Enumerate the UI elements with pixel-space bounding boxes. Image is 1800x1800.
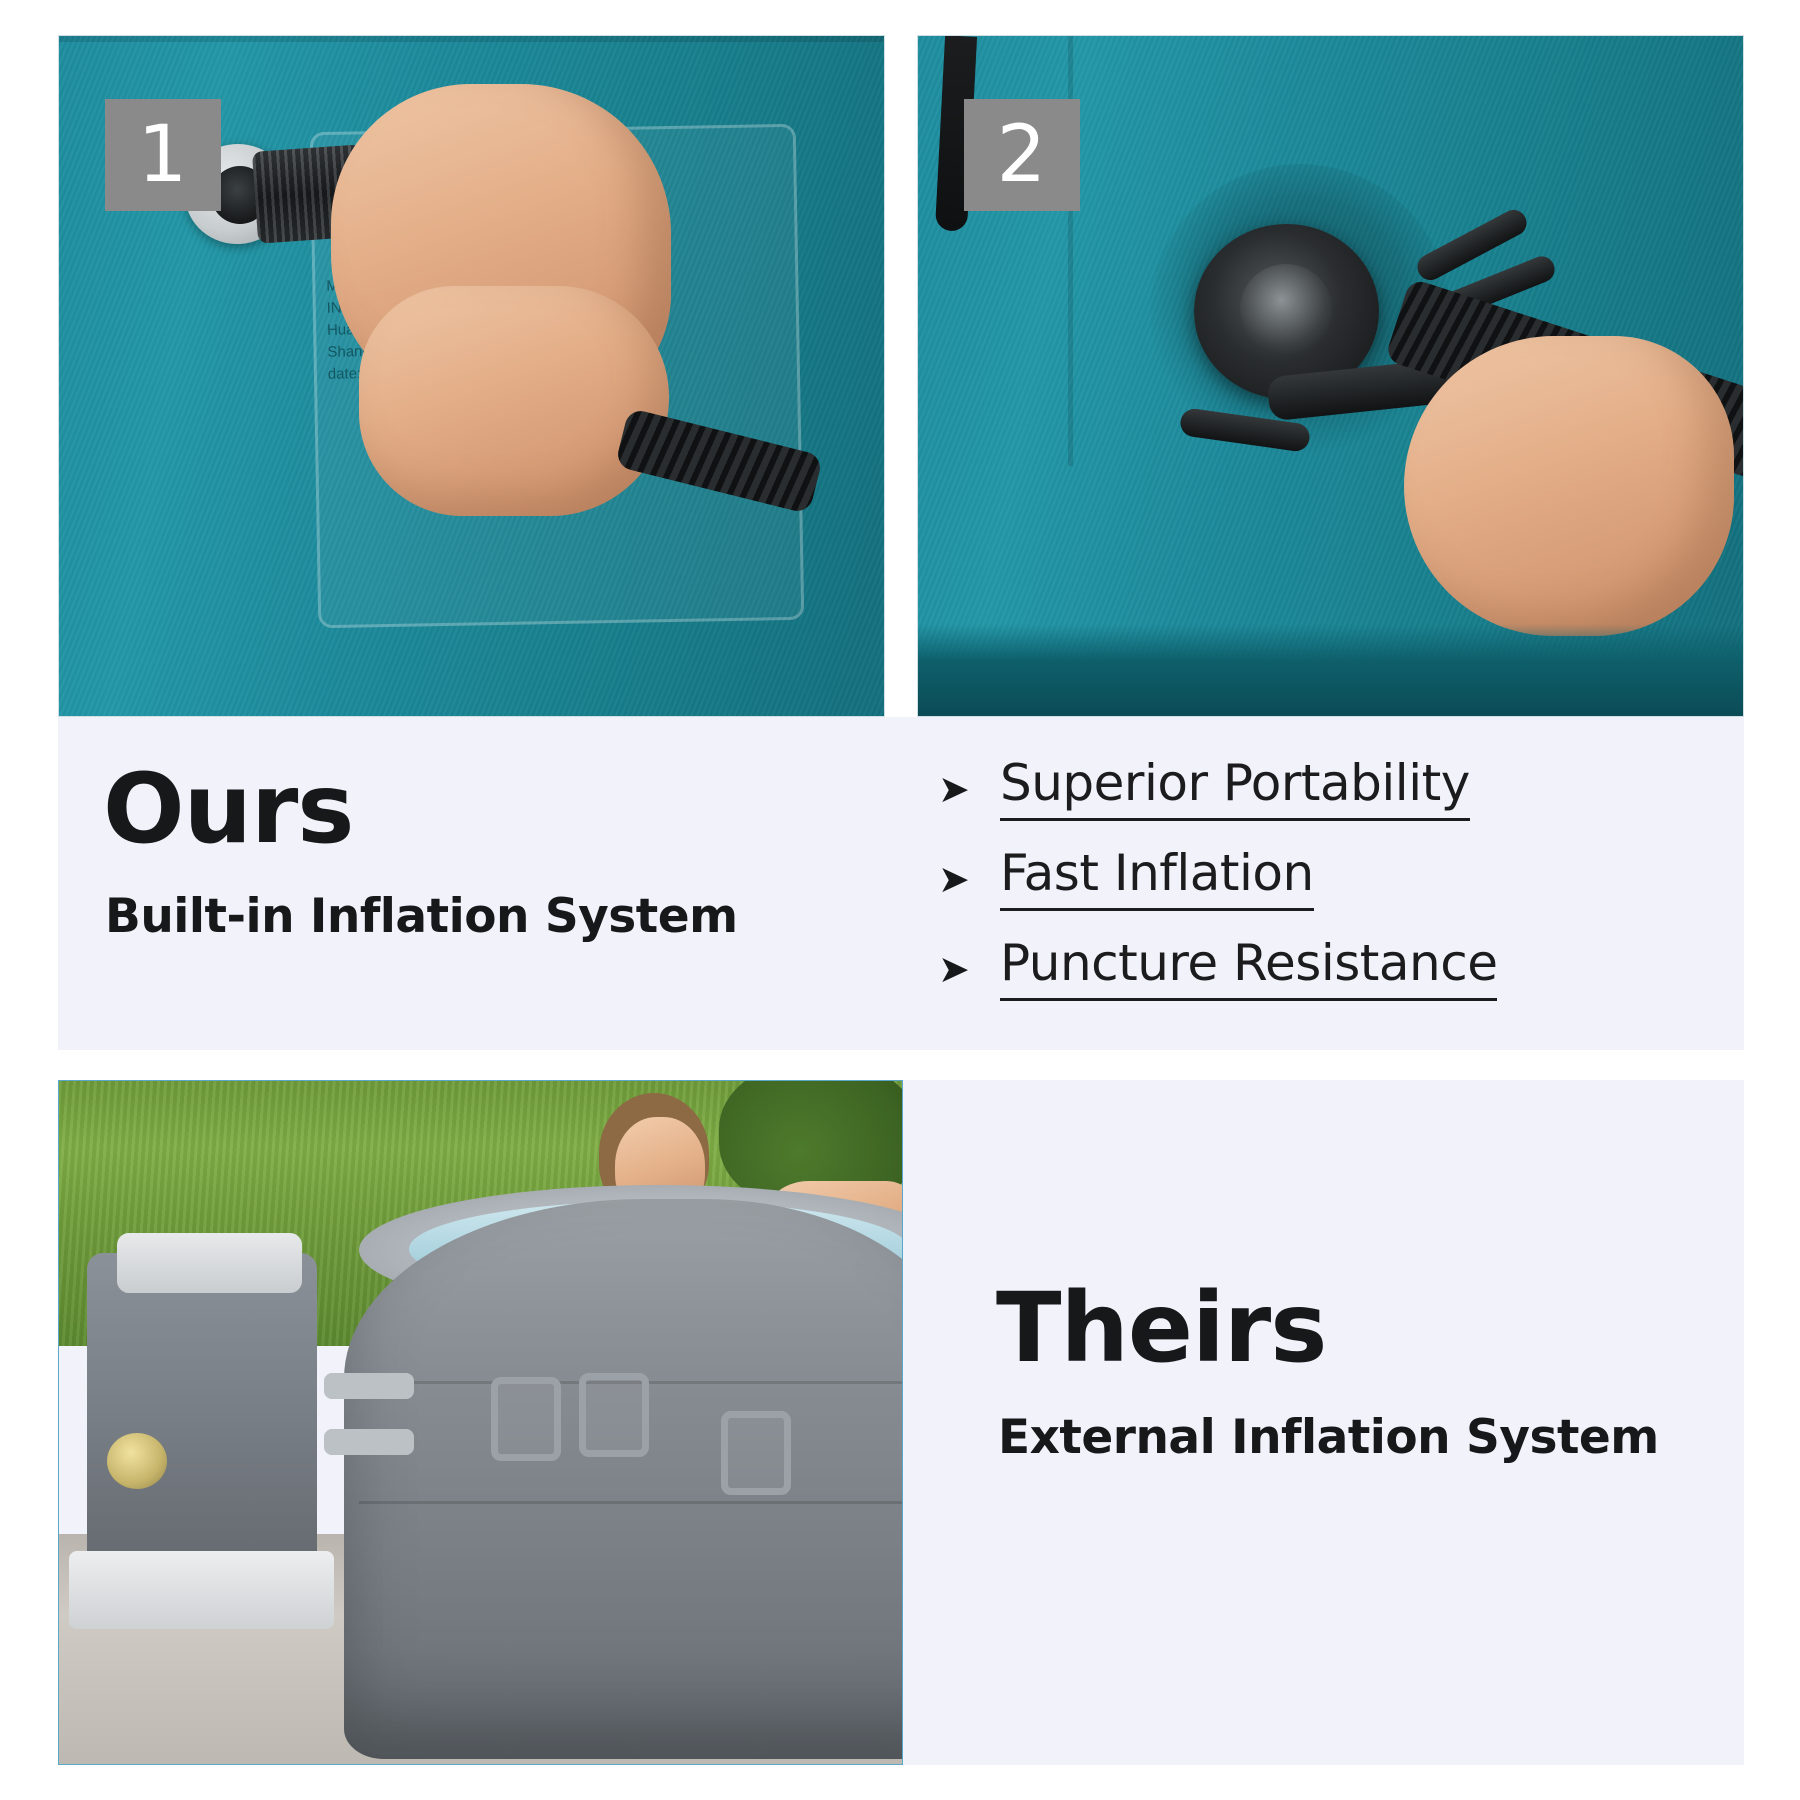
ours-step-2-photo: 2 (917, 35, 1744, 717)
theirs-photo (58, 1080, 903, 1765)
feature-item: ➤ Superior Portability (938, 749, 1698, 825)
theirs-title: Theirs (996, 1280, 1326, 1376)
tub-handle (491, 1377, 561, 1461)
comparison-infographic: Ma... Tempe... OCEANIA INTER... CO., LTD… (0, 0, 1800, 1800)
hand (1404, 336, 1734, 636)
external-hose-top (324, 1373, 414, 1399)
inflatable-tub (344, 1199, 903, 1759)
tub-handle (721, 1411, 791, 1495)
ours-section: Ma... Tempe... OCEANIA INTER... CO., LTD… (58, 35, 1744, 1050)
tub-handle (579, 1373, 649, 1457)
floor-shadow (918, 624, 1743, 716)
step-badge-1: 1 (105, 99, 221, 211)
step-badge-2: 2 (964, 99, 1080, 211)
seam-line (59, 36, 884, 42)
feature-label: Fast Inflation (1000, 844, 1314, 911)
ours-subtitle: Built-in Inflation System (105, 889, 738, 944)
ours-caption-bar: Ours Built-in Inflation System ➤ Superio… (58, 717, 1744, 1050)
theirs-subtitle: External Inflation System (998, 1410, 1659, 1465)
ours-title: Ours (103, 761, 353, 857)
pump-lid (117, 1233, 302, 1293)
feature-list: ➤ Superior Portability ➤ Fast Inflation … (938, 749, 1698, 1019)
external-pump-unit (87, 1253, 317, 1583)
arrow-right-icon: ➤ (938, 855, 1000, 899)
feature-label: Puncture Resistance (1000, 934, 1497, 1001)
hand-fingers (359, 286, 669, 516)
tub-seam (359, 1501, 903, 1504)
valve-inner-ring (1240, 264, 1332, 354)
pump-knob (107, 1433, 167, 1489)
pump-base (69, 1551, 334, 1629)
arrow-right-icon: ➤ (938, 945, 1000, 989)
feature-item: ➤ Fast Inflation (938, 839, 1698, 915)
ours-step-1-photo: Ma... Tempe... OCEANIA INTER... CO., LTD… (58, 35, 885, 717)
feature-label: Superior Portability (1000, 754, 1470, 821)
feature-item: ➤ Puncture Resistance (938, 929, 1698, 1005)
ours-photo-row: Ma... Tempe... OCEANIA INTER... CO., LTD… (58, 35, 1744, 717)
theirs-section: Theirs External Inflation System (58, 1080, 1744, 1765)
external-hose-bottom (324, 1429, 414, 1455)
arrow-right-icon: ➤ (938, 765, 1000, 809)
